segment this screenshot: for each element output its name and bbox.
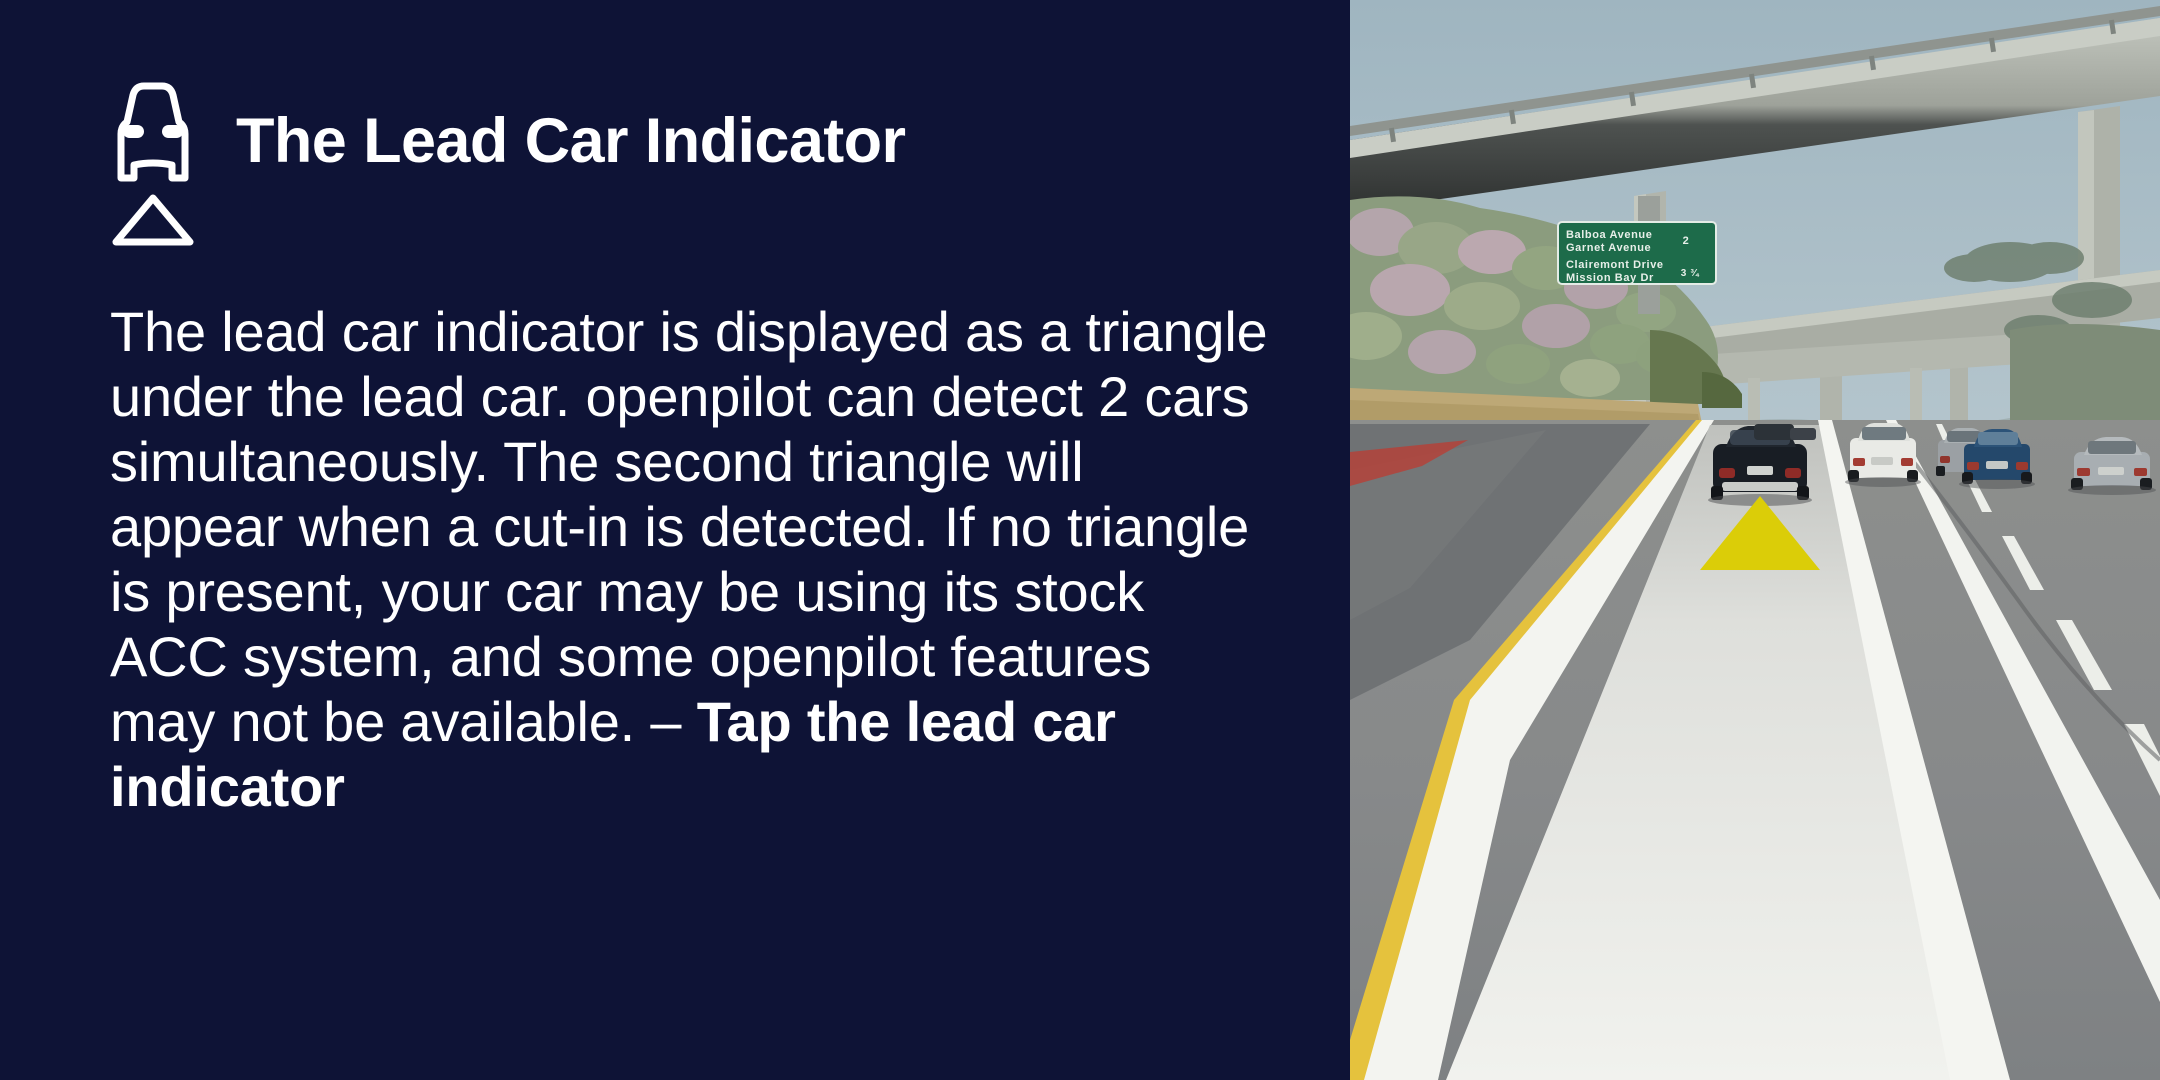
onboarding-slide: The Lead Car Indicator The lead car indi… xyxy=(0,0,2160,1080)
panel-header: The Lead Car Indicator xyxy=(98,70,905,255)
headlight-left-icon xyxy=(123,125,144,138)
panel-description: The lead car indicator is displayed as a… xyxy=(110,300,1270,820)
headlight-right-icon xyxy=(162,125,183,138)
lead-car-indicator-glyph xyxy=(98,70,208,255)
page-title: The Lead Car Indicator xyxy=(236,110,905,173)
sign-line-4: Mission Bay Dr xyxy=(1566,272,1654,284)
sign-line-3: Clairemont Drive xyxy=(1566,259,1664,271)
lead-car-indicator-icon xyxy=(98,70,208,255)
sign-distance-1: 2 xyxy=(1683,235,1690,247)
description-text: The lead car indicator is displayed as a… xyxy=(110,300,1268,753)
info-panel: The Lead Car Indicator The lead car indi… xyxy=(0,0,1350,1080)
sign-line-1: Balboa Avenue xyxy=(1566,229,1652,241)
sign-line-2: Garnet Avenue xyxy=(1566,242,1651,254)
sign-distance-2: 3 ¾ xyxy=(1681,268,1700,279)
camera-preview-image: Balboa Avenue Garnet Avenue Clairemont D… xyxy=(1350,0,2160,1080)
lead-triangle-icon xyxy=(116,198,190,242)
highway-scene: Balboa Avenue Garnet Avenue Clairemont D… xyxy=(1350,0,2160,1080)
